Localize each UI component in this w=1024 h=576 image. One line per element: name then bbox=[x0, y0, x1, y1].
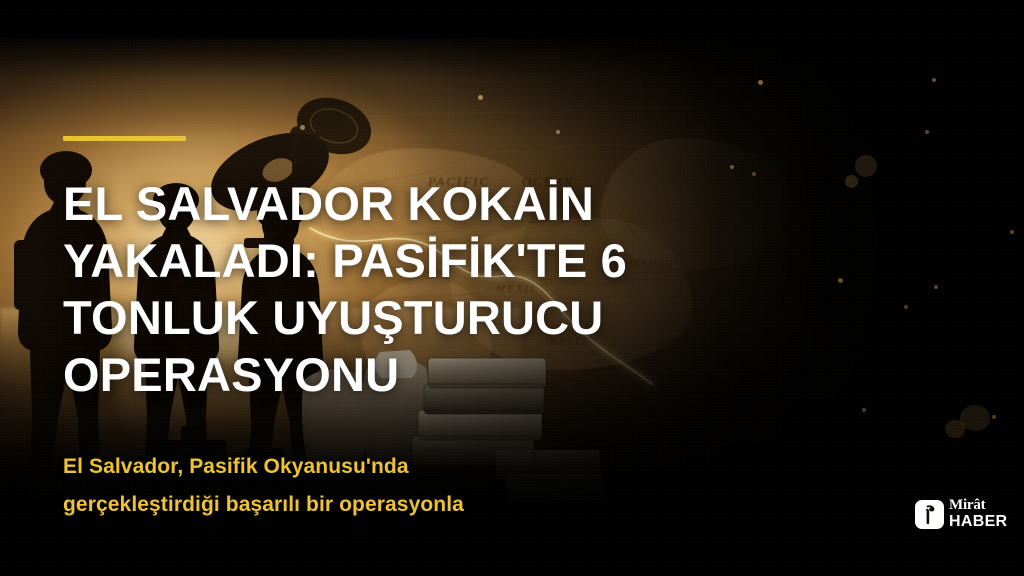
headline-line-4: OPERASYONU bbox=[63, 346, 763, 403]
card-content: EL SALVADOR KOKAİN YAKALADI: PASİFİK'TE … bbox=[0, 0, 1024, 576]
mirat-calligraphy-mark-icon bbox=[915, 500, 944, 529]
page-subtitle: El Salvador, Pasifik Okyanusu'nda gerçek… bbox=[63, 448, 703, 524]
gold-accent-rule bbox=[63, 136, 186, 141]
logo-wordmark: Mirât HABER bbox=[949, 498, 1007, 530]
subhead-line-2: gerçekleştirdiği başarılı bir operasyonl… bbox=[63, 486, 703, 524]
news-card: PACIFIC OCEAN MEXICO BELIZE HONDURAS GUA… bbox=[0, 0, 1024, 576]
logo-line-1: Mirât bbox=[949, 498, 1007, 513]
headline-line-2: YAKALADI: PASİFİK'TE 6 bbox=[63, 232, 763, 289]
logo-line-2: HABER bbox=[949, 514, 1007, 530]
headline-line-1: EL SALVADOR KOKAİN bbox=[63, 175, 763, 232]
page-title: EL SALVADOR KOKAİN YAKALADI: PASİFİK'TE … bbox=[63, 175, 763, 403]
subhead-line-1: El Salvador, Pasifik Okyanusu'nda bbox=[63, 448, 703, 486]
mirat-haber-logo[interactable]: Mirât HABER bbox=[915, 498, 1007, 530]
headline-line-3: TONLUK UYUŞTURUCU bbox=[63, 289, 763, 346]
